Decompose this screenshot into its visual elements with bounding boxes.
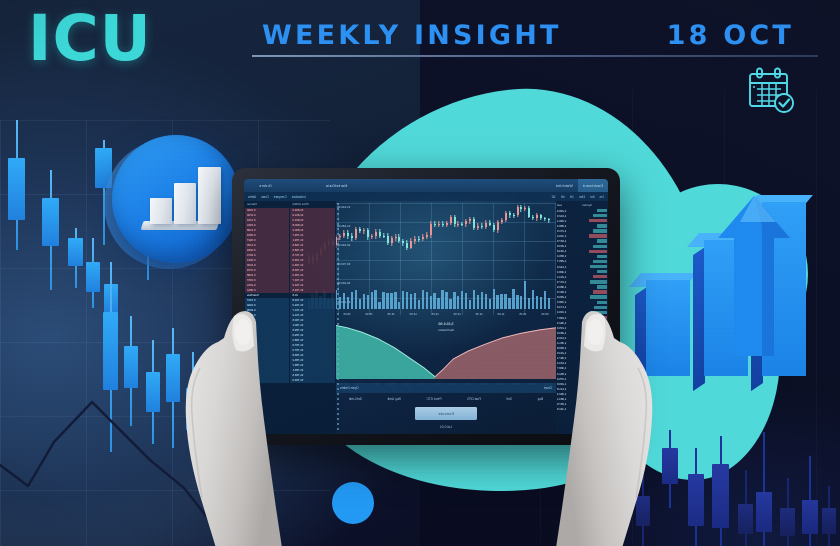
- volume-bar: [485, 294, 487, 309]
- badge-bar-3: [198, 167, 221, 224]
- volume-bar: [508, 298, 510, 309]
- volume-bar: [493, 289, 495, 309]
- volume-bar: [355, 290, 357, 309]
- watchlist-value: 1,408.4: [557, 270, 596, 274]
- volume-bar: [347, 297, 349, 309]
- watchlist-sparkline: [593, 214, 607, 217]
- volume-bar: [418, 300, 420, 309]
- chart-x-label: 10:15: [519, 312, 526, 316]
- watchlist-sparkline: [597, 285, 607, 288]
- watchlist-value: 1,157.3: [557, 280, 589, 284]
- candlestick: [351, 203, 353, 291]
- volume-bar: [351, 292, 353, 309]
- volume-bar: [465, 293, 467, 309]
- candlestick: [528, 203, 530, 291]
- watchlist-sparkline: [590, 265, 607, 268]
- candlestick: [457, 203, 459, 291]
- screen-toolbar: 1m 5m 15m 1H 4H 1D Indicators Compare Dr…: [244, 192, 608, 201]
- header-divider: [252, 55, 818, 57]
- candlestick: [497, 203, 499, 291]
- candlestick: [418, 203, 420, 291]
- candlestick: [469, 203, 471, 291]
- menu-item[interactable]: Sell Limit: [349, 397, 362, 401]
- candlestick: [461, 203, 463, 291]
- watchlist-value: 1,224.1: [557, 275, 592, 279]
- candlestick: [379, 203, 381, 291]
- watchlist-value: 1,091.5: [557, 290, 592, 294]
- candlestick: [343, 203, 345, 291]
- chip-4h[interactable]: 4H: [561, 195, 565, 199]
- candlestick: [532, 203, 534, 291]
- candlestick: [450, 203, 452, 291]
- candlestick: [355, 203, 357, 291]
- decorative-circle-blue: [332, 482, 374, 524]
- candlestick-chart[interactable]: 31,420.0031,180.0030,940.0030,700.0030,4…: [336, 203, 556, 315]
- watchlist-value: 1,336.1: [557, 219, 588, 223]
- volume-bar: [426, 292, 428, 309]
- candlestick: [422, 203, 424, 291]
- watchlist-value: 1,266.8: [557, 295, 589, 299]
- volume-bar: [359, 299, 361, 309]
- page-title: WEEKLY INSIGHT: [262, 20, 562, 51]
- tab-marketdata[interactable]: MarketData: [321, 184, 353, 188]
- candlestick: [359, 203, 361, 291]
- watchlist-value: 1,295.7: [557, 259, 592, 263]
- volume-bar: [398, 302, 400, 309]
- area-chart-caption: Net Position: [438, 328, 454, 332]
- watchlist-header-last: Last: [557, 203, 582, 207]
- volume-bar: [414, 293, 416, 309]
- candlestick: [406, 203, 408, 291]
- poster-canvas: ICU WEEKLY INSIGHT 18 OCT: [0, 0, 840, 546]
- volume-bar: [500, 294, 502, 309]
- watchlist-value: 1,419.2: [557, 234, 588, 238]
- watchlist-value: 1,344.8: [557, 249, 588, 253]
- hand-right: [540, 300, 666, 546]
- volume-bar: [386, 293, 388, 309]
- candlestick: [493, 203, 495, 291]
- watchlist-sparkline: [590, 295, 607, 298]
- volume-bar: [516, 295, 518, 309]
- volume-bar: [371, 292, 373, 309]
- lot-caption: Lot 0.01: [440, 425, 452, 430]
- watchlist-sparkline: [589, 219, 607, 222]
- volume-bar: [441, 290, 443, 309]
- candlestick: [367, 203, 369, 291]
- candlestick: [410, 203, 412, 291]
- volume-bar: [437, 298, 439, 310]
- chip-1d[interactable]: 1D: [552, 195, 556, 199]
- watchlist-sparkline: [589, 250, 607, 253]
- volume-bar: [422, 290, 424, 309]
- volume-bar: [481, 292, 483, 309]
- chip-15m[interactable]: 15m: [579, 195, 585, 199]
- candlestick: [513, 203, 515, 291]
- watchlist-sparkline: [590, 280, 607, 283]
- chart-x-label: 14:00: [410, 312, 417, 316]
- screen-menu-row: BuySellFast CFDPend GTCBuy LimitSell Lim…: [336, 395, 556, 403]
- candlestick: [536, 203, 538, 291]
- issue-date: 18 OCT: [667, 20, 794, 51]
- screen-divider-dots: [337, 203, 339, 432]
- area-chart[interactable]: 3,814.66 Net Position 08:0008:4509:3010:…: [336, 321, 556, 379]
- volume-bar: [457, 296, 459, 309]
- watchlist-sparkline: [593, 290, 607, 293]
- watchlist-sparkline: [593, 275, 607, 278]
- volume-bar: [363, 294, 365, 309]
- volume-bar: [449, 299, 451, 309]
- volume-bar: [524, 281, 526, 309]
- bar-chart-badge: [104, 135, 239, 270]
- candlestick: [371, 203, 373, 291]
- header: ICU WEEKLY INSIGHT 18 OCT: [0, 0, 840, 78]
- screen-topbar: Dashboard Watchlist MarketData Orders: [244, 179, 608, 192]
- chart-x-label: 15:30: [366, 312, 373, 316]
- chart-x-label: 14:45: [388, 312, 395, 316]
- volume-bar: [473, 290, 475, 309]
- volume-bar: [520, 296, 522, 309]
- candlestick: [465, 203, 467, 291]
- volume-bar: [504, 294, 506, 309]
- watchlist-sparkline: [597, 209, 607, 212]
- up-arrow-icon: [718, 196, 790, 356]
- tab-dashboard[interactable]: Dashboard: [578, 179, 608, 192]
- candlestick: [489, 203, 491, 291]
- volume-bar: [532, 290, 534, 309]
- volume-bar: [512, 289, 514, 309]
- candlestick: [505, 203, 507, 291]
- watchlist-sparkline: [597, 270, 607, 273]
- volume-bar: [382, 292, 384, 309]
- tab-orders[interactable]: Orders: [254, 184, 277, 188]
- chart-region: 31,420.0031,180.0030,940.0030,700.0030,4…: [336, 201, 556, 434]
- volume-bar: [433, 293, 435, 309]
- candlestick: [540, 203, 542, 291]
- chart-x-label: 13:15: [432, 312, 439, 316]
- volume-bar: [477, 295, 479, 309]
- execute-button[interactable]: Execute: [415, 407, 477, 420]
- badge-bar-2: [174, 183, 196, 224]
- candlestick: [363, 203, 365, 291]
- candlestick: [426, 203, 428, 291]
- chip-compare[interactable]: Compare: [274, 195, 287, 199]
- chip-1h[interactable]: 1H: [570, 195, 574, 199]
- volume-bar: [489, 299, 491, 309]
- watchlist-value: 1,271.5: [557, 229, 592, 233]
- volume-bar: [496, 295, 498, 310]
- chip-indicators[interactable]: Indicators: [292, 195, 306, 199]
- volume-bar: [374, 290, 376, 309]
- area-chart-value: 3,814.66: [438, 321, 454, 326]
- volume-bar: [390, 293, 392, 309]
- candlestick: [347, 203, 349, 291]
- volume-bar: [445, 292, 447, 309]
- volume-bar: [528, 298, 530, 309]
- candlestick: [501, 203, 503, 291]
- screen-bottom-bar: Chart Open Orders: [336, 383, 556, 393]
- volume-bar: [461, 291, 463, 309]
- calendar-check-icon: [745, 66, 797, 116]
- watchlist-value: 1,066.2: [557, 254, 596, 258]
- volume-bar: [343, 293, 345, 309]
- candlestick: [548, 203, 550, 291]
- candlestick: [398, 203, 400, 291]
- volume-bar: [469, 300, 471, 309]
- menu-item[interactable]: Sell: [507, 397, 512, 401]
- volume-bar: [394, 292, 396, 309]
- candlestick: [473, 203, 475, 291]
- candlestick: [485, 203, 487, 291]
- chart-x-label: 12:30: [454, 312, 461, 316]
- logo-icu: ICU: [28, 7, 152, 70]
- volume-bar: [339, 297, 341, 309]
- area-chart-value-label: 3,814.66 Net Position: [438, 321, 454, 333]
- volume-bar: [410, 294, 412, 309]
- candlestick: [383, 203, 385, 291]
- watchlist-value: 1,102.6: [557, 214, 592, 218]
- watchlist-sparkline: [597, 239, 607, 242]
- candlestick: [395, 203, 397, 291]
- menu-item[interactable]: Fast CFD: [467, 397, 481, 401]
- candlestick: [442, 203, 444, 291]
- candlestick: [517, 203, 519, 291]
- candlestick: [414, 203, 416, 291]
- candlestick: [391, 203, 393, 291]
- volume-bar: [367, 295, 369, 309]
- watchlist-value: 1,203.9: [557, 244, 592, 248]
- watchlist-sparkline: [593, 245, 607, 248]
- candlestick: [477, 203, 479, 291]
- hand-left: [172, 298, 298, 546]
- volume-bar: [536, 296, 538, 309]
- watchlist-sparkline: [593, 260, 607, 263]
- menu-item[interactable]: Buy Limit: [388, 397, 401, 401]
- candlestick: [520, 203, 522, 291]
- chart-x-label: 11:00: [498, 312, 505, 316]
- watchlist-sparkline: [597, 255, 607, 258]
- volume-bar: [406, 292, 408, 309]
- menu-item[interactable]: Pend GTC: [426, 397, 441, 401]
- candlestick: [430, 203, 432, 291]
- watchlist-value: 1,058.4: [557, 224, 596, 228]
- candlestick: [339, 203, 341, 291]
- watchlist-value: 1,380.9: [557, 285, 596, 289]
- volume-bar: [378, 302, 380, 309]
- watchlist-value: 1,132.0: [557, 265, 589, 269]
- chip-5m[interactable]: 5m: [590, 195, 594, 199]
- candlestick: [454, 203, 456, 291]
- watchlist-sparkline: [589, 234, 607, 237]
- watchlist-value: 1,248.3: [557, 209, 596, 213]
- chart-x-axis: 09:3010:1511:0011:4512:3013:1514:0014:45…: [336, 312, 556, 316]
- tab-watchlist[interactable]: Watchlist: [551, 184, 578, 188]
- chip-draw[interactable]: Draw: [261, 195, 268, 199]
- bottombar-orders-label[interactable]: Open Orders: [340, 386, 358, 390]
- watchlist-header-symbol: Symbol: [583, 203, 608, 207]
- candlestick: [544, 203, 546, 291]
- watchlist-sparkline: [593, 229, 607, 232]
- chart-x-label: 16:00: [344, 312, 351, 316]
- candlestick: [438, 203, 440, 291]
- candlestick: [446, 203, 448, 291]
- candlestick: [524, 203, 526, 291]
- volume-bar: [453, 292, 455, 309]
- candlestick: [375, 203, 377, 291]
- candlestick: [387, 203, 389, 291]
- chip-1m[interactable]: 1m: [600, 195, 604, 199]
- chip-alerts[interactable]: Alerts: [248, 195, 256, 199]
- volume-bar: [430, 296, 432, 309]
- badge-bar-1: [150, 198, 172, 224]
- candlestick: [481, 203, 483, 291]
- candlestick: [434, 203, 436, 291]
- watchlist-value: 1,187.6: [557, 239, 596, 243]
- candlestick: [509, 203, 511, 291]
- watchlist-sparkline: [597, 224, 607, 227]
- chart-x-label: 11:45: [476, 312, 483, 316]
- candlestick: [402, 203, 404, 291]
- volume-bar: [402, 291, 404, 309]
